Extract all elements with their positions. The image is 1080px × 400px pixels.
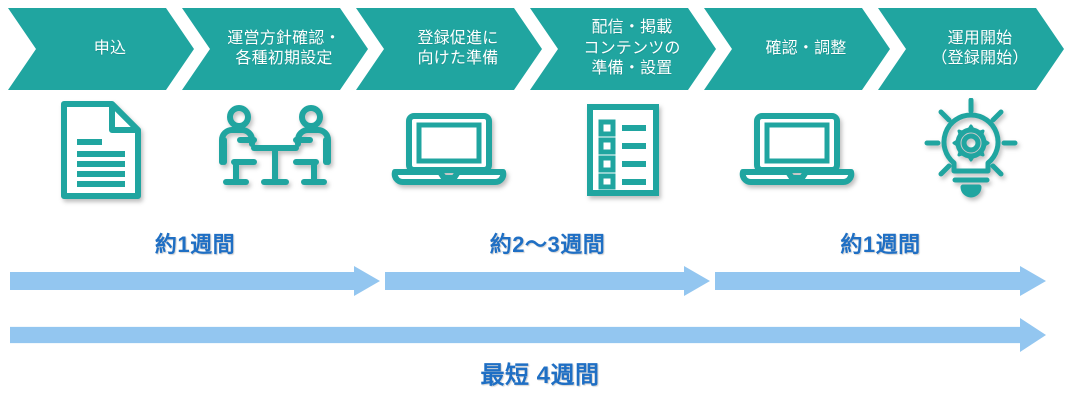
process-step-6[interactable]: 運用開始 （登録開始） xyxy=(878,8,1064,90)
total-duration-row: 最短 4週間 xyxy=(0,318,1080,396)
process-icon-cell-3 xyxy=(356,98,542,202)
duration-segment-3: 約1週間 xyxy=(715,228,1046,300)
process-icon-cell-2 xyxy=(182,98,368,202)
duration-segment-3-label: 約1週間 xyxy=(715,228,1046,262)
laptop-icon xyxy=(735,106,859,194)
process-icon-cell-1 xyxy=(8,98,194,202)
process-step-2-label: 運営方針確認・ 各種初期設定 xyxy=(205,29,344,70)
total-duration-label: 最短 4週間 xyxy=(0,358,1080,394)
duration-segment-2-label: 約2〜3週間 xyxy=(385,228,710,262)
process-step-6-label: 運用開始 （登録開始） xyxy=(909,29,1032,70)
process-step-1-label: 申込 xyxy=(72,39,130,59)
process-step-4-label: 配信・掲載 コンテンツの 準備・設置 xyxy=(561,18,684,79)
duration-segment-3-arrow xyxy=(715,266,1046,296)
duration-segment-2-arrow xyxy=(385,266,710,296)
meeting-icon xyxy=(212,104,338,196)
duration-segment-2: 約2〜3週間 xyxy=(385,228,710,300)
process-step-1[interactable]: 申込 xyxy=(8,8,194,90)
document-icon xyxy=(58,100,144,200)
process-step-row: 申込 運営方針確認・ 各種初期設定 登録促進に 向けた準備 配信・掲載 コンテン… xyxy=(0,8,1080,90)
process-icon-cell-4 xyxy=(530,98,716,202)
process-step-3-label: 登録促進に 向けた準備 xyxy=(395,29,502,70)
process-step-5-label: 確認・調整 xyxy=(743,39,850,59)
process-step-5[interactable]: 確認・調整 xyxy=(704,8,890,90)
duration-segment-1: 約1週間 xyxy=(10,228,380,300)
duration-arrow-row: 約1週間 約2〜3週間 約1週間 xyxy=(0,228,1080,300)
process-icon-cell-6 xyxy=(878,98,1064,202)
process-step-3[interactable]: 登録促進に 向けた準備 xyxy=(356,8,542,90)
process-icon-cell-5 xyxy=(704,98,890,202)
process-step-4[interactable]: 配信・掲載 コンテンツの 準備・設置 xyxy=(530,8,716,90)
laptop-icon xyxy=(387,106,511,194)
duration-segment-1-label: 約1週間 xyxy=(10,228,380,262)
total-duration-arrow xyxy=(10,318,1046,352)
process-icon-row xyxy=(0,98,1080,202)
checklist-icon xyxy=(584,102,662,198)
process-step-2[interactable]: 運営方針確認・ 各種初期設定 xyxy=(182,8,368,90)
lightbulb-gear-icon xyxy=(919,98,1023,202)
duration-segment-1-arrow xyxy=(10,266,380,296)
